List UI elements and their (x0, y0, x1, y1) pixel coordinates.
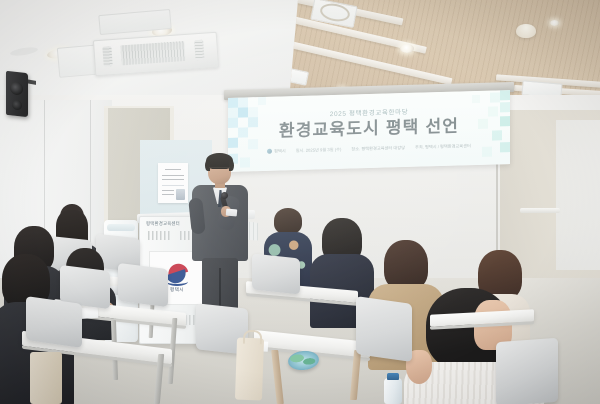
projected-slide: 2025 평택환경교육한마당 환경교육도시 평택 선언 평택시 일시. 2025… (228, 90, 510, 172)
wall-speaker-icon (6, 71, 28, 117)
chair[interactable] (356, 296, 412, 362)
audience-hair (274, 208, 302, 234)
chair[interactable] (496, 338, 558, 404)
tote-bag[interactable] (235, 338, 264, 401)
recessed-light (550, 20, 559, 26)
city-logo-icon (267, 149, 272, 154)
slide-footer-venue: 장소. 평택환경교육센터 대강당 (351, 145, 405, 152)
wall-shelf-strip (520, 208, 560, 213)
presenter-glasses (209, 167, 230, 173)
photo-scene: 2025 평택환경교육한마당 환경교육도시 평택 선언 평택시 일시. 2025… (0, 0, 600, 404)
purifier-top-vent (107, 224, 135, 231)
podium-city-label: 평택시 (170, 287, 184, 293)
slide-footer-date: 일시. 2025년 9월 3일 (수) (296, 147, 342, 154)
speaker-cone-icon (10, 81, 23, 95)
slide-footer-org: 평택시 (267, 148, 286, 155)
poster-photo (176, 189, 185, 200)
audience-hair (384, 240, 428, 290)
ceiling-dome-light (516, 24, 536, 38)
presenter-name-badge (226, 209, 238, 217)
taeguk-logo-icon (167, 264, 187, 284)
chair[interactable] (252, 253, 300, 294)
water-bottle[interactable] (384, 378, 402, 404)
right-wall-white-section (556, 120, 600, 270)
bag-handle (243, 330, 262, 345)
bottle-cap (387, 373, 399, 380)
recessed-light (400, 44, 414, 53)
podium-center-label: 평택환경교육센터 (146, 221, 180, 227)
chair[interactable] (118, 263, 168, 307)
slide-footer-host: 주최. 평택시 / 평택환경교육센터 (415, 143, 471, 151)
wall-notice-poster[interactable] (158, 163, 188, 203)
chair[interactable] (26, 296, 82, 348)
tote-bag[interactable] (30, 352, 62, 404)
podium-vent (148, 231, 170, 240)
microphone-head-icon (221, 192, 228, 199)
projection-screen[interactable]: 2025 평택환경교육한마당 환경교육도시 평택 선언 평택시 일시. 2025… (228, 90, 510, 172)
